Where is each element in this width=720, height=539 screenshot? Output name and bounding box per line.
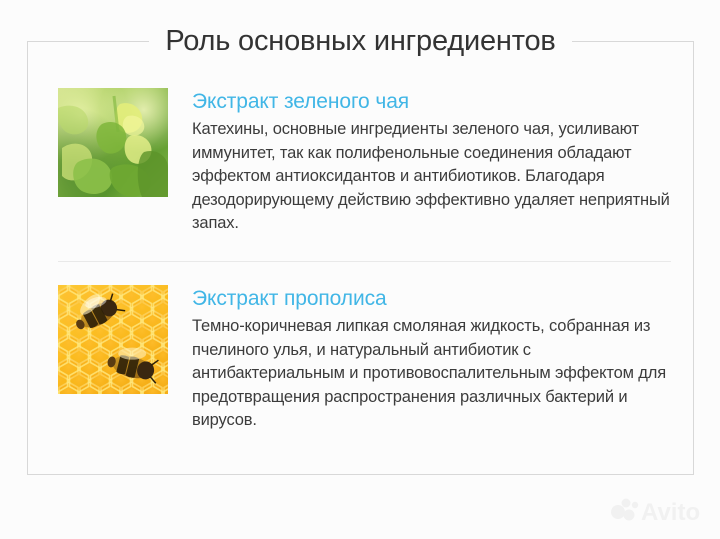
ingredient-name-green-tea: Экстракт зеленого чая bbox=[192, 89, 678, 115]
avito-watermark: Avito bbox=[610, 495, 706, 525]
propolis-text-block: Экстракт прополиса Темно-коричневая липк… bbox=[192, 285, 678, 433]
ingredient-row-green-tea: Экстракт зеленого чая Катехины, основные… bbox=[58, 88, 678, 236]
honeycomb-with-bees-image bbox=[58, 285, 168, 394]
avito-logo-text: Avito bbox=[641, 499, 700, 525]
green-tea-text-block: Экстракт зеленого чая Катехины, основные… bbox=[192, 88, 678, 236]
ingredients-panel: Роль основных ингредиентов bbox=[27, 41, 694, 475]
section-divider bbox=[58, 261, 671, 262]
ingredient-name-propolis: Экстракт прополиса bbox=[192, 286, 678, 312]
green-tea-leaves-image bbox=[58, 88, 168, 197]
page-title: Роль основных ингредиентов bbox=[28, 20, 693, 62]
ingredient-description-green-tea: Катехины, основные ингредиенты зеленого … bbox=[192, 118, 678, 236]
avito-logo-icon: Avito bbox=[610, 495, 706, 525]
ingredient-description-propolis: Темно-коричневая липкая смоляная жидкост… bbox=[192, 315, 678, 433]
ingredient-row-propolis: Экстракт прополиса Темно-коричневая липк… bbox=[58, 285, 678, 433]
page-title-text: Роль основных ингредиентов bbox=[149, 20, 571, 62]
